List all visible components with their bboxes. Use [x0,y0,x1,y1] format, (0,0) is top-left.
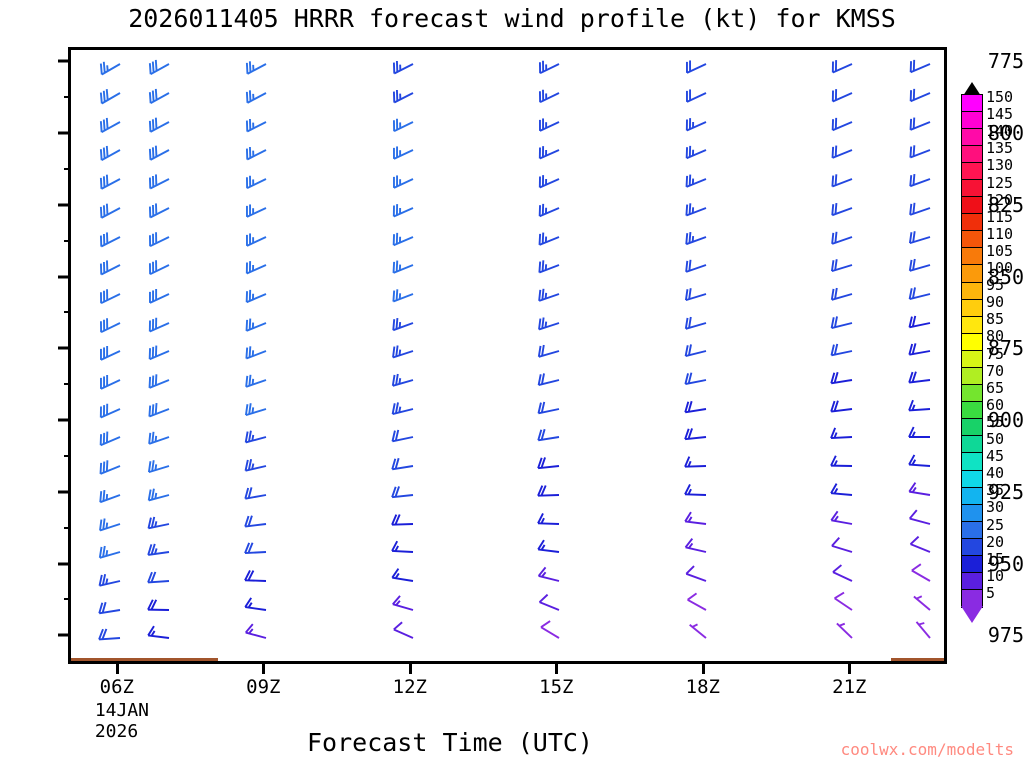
wind-barb-glyph [683,615,729,661]
colorbar-tick-label: 95 [986,276,1004,294]
colorbar-swatch [961,401,983,420]
wind-barb-glyph [243,615,289,661]
page-title: 2026011405 HRRR forecast wind profile (k… [0,4,1024,33]
colorbar-tick-label: 30 [986,498,1004,516]
x-axis-label: 21Z [832,676,866,698]
colorbar-tick-label: 50 [986,430,1004,448]
y-axis-tick [58,562,69,565]
x-axis-label: 18Z [686,676,720,698]
colorbar-swatch [961,350,983,369]
colorbar-swatch [961,196,983,215]
colorbar-swatch [961,333,983,352]
x-axis-tick [262,664,265,674]
y-axis-minor-tick [64,527,69,529]
x-axis-tick [555,664,558,674]
colorbar-swatch [961,504,983,523]
y-axis-minor-tick [64,311,69,313]
x-axis-tick [409,664,412,674]
colorbar-tick-label: 80 [986,327,1004,345]
wind-barb [97,615,143,661]
colorbar-tick-label: 5 [986,584,995,602]
colorbar-tick-label: 135 [986,139,1013,157]
colorbar-swatch [961,111,983,130]
wind-barb [829,615,875,661]
colorbar-swatch [961,299,983,318]
x-axis-tick [116,664,119,674]
colorbar-tick-label: 60 [986,396,1004,414]
wind-profile-chart: 2026011405 HRRR forecast wind profile (k… [0,0,1024,768]
y-axis-label: 975 [969,623,1024,647]
colorbar-swatch [961,316,983,335]
colorbar-tick-label: 115 [986,208,1013,226]
plot-inner [71,50,944,661]
x-axis-title: Forecast Time (UTC) [0,728,900,757]
colorbar[interactable] [961,95,983,608]
x-axis-tick [702,664,705,674]
colorbar-swatch [961,145,983,164]
colorbar-tick-label: 140 [986,122,1013,140]
y-axis-minor-tick [64,168,69,170]
wind-barb-glyph [536,615,582,661]
colorbar-swatch [961,521,983,540]
colorbar-tick-label: 65 [986,379,1004,397]
colorbar-swatch [961,555,983,574]
wind-barb-glyph [907,615,947,661]
colorbar-swatch [961,538,983,557]
colorbar-tick-label: 40 [986,464,1004,482]
colorbar-tick-label: 125 [986,174,1013,192]
y-axis-tick [58,203,69,206]
x-axis-label: 09Z [246,676,280,698]
colorbar-tick-label: 85 [986,310,1004,328]
colorbar-swatch [961,384,983,403]
colorbar-swatch [961,213,983,232]
plot-area [68,47,947,664]
credit-link[interactable]: coolwx.com/modelts [841,740,1014,759]
y-axis-minor-tick [64,96,69,98]
colorbar-tick-label: 10 [986,567,1004,585]
colorbar-tick-label: 75 [986,345,1004,363]
wind-barb [146,615,192,661]
y-axis-tick [58,60,69,63]
colorbar-swatch [961,367,983,386]
x-axis-tick [848,664,851,674]
colorbar-tick-label: 70 [986,362,1004,380]
wind-barb [536,615,582,661]
y-axis-tick [58,132,69,135]
colorbar-swatch [961,94,983,113]
colorbar-tick-label: 20 [986,533,1004,551]
colorbar-swatch [961,179,983,198]
x-axis-label: 12Z [393,676,427,698]
colorbar-tick-label: 145 [986,105,1013,123]
y-axis-tick [58,490,69,493]
terrain-band [218,661,340,664]
wind-barb [907,615,947,661]
colorbar-tick-label: 150 [986,88,1013,106]
colorbar-tick-label: 35 [986,481,1004,499]
colorbar-swatch [961,470,983,489]
y-axis-minor-tick [64,383,69,385]
colorbar-tick-label: 130 [986,156,1013,174]
y-axis-minor-tick [64,455,69,457]
colorbar-tick-label: 25 [986,516,1004,534]
colorbar-tick-label: 15 [986,550,1004,568]
colorbar-tick-label: 100 [986,259,1013,277]
colorbar-tick-label: 55 [986,413,1004,431]
colorbar-swatch [961,247,983,266]
y-axis-tick [58,634,69,637]
wind-barb-glyph [829,615,875,661]
wind-barb [683,615,729,661]
y-axis-label: 775 [969,49,1024,73]
colorbar-swatch [961,452,983,471]
y-axis-tick [58,419,69,422]
colorbar-swatch [961,128,983,147]
colorbar-tick-label: 45 [986,447,1004,465]
colorbar-swatch [961,162,983,181]
y-axis-minor-tick [64,240,69,242]
colorbar-swatch [961,264,983,283]
colorbar-swatch [961,282,983,301]
x-axis-label: 06Z [100,676,134,698]
y-axis-tick [58,275,69,278]
colorbar-swatch [961,487,983,506]
colorbar-tick-label: 110 [986,225,1013,243]
colorbar-under-arrow-icon [961,606,983,623]
colorbar-swatch [961,418,983,437]
wind-barb-glyph [146,615,192,661]
x-axis-label: 15Z [539,676,573,698]
wind-barb-glyph [390,615,436,661]
colorbar-tick-label: 120 [986,191,1013,209]
terrain-band [779,661,891,664]
colorbar-swatch [961,230,983,249]
colorbar-tick-label: 90 [986,293,1004,311]
colorbar-swatch [961,572,983,591]
wind-barb [390,615,436,661]
y-axis-tick [58,347,69,350]
colorbar-tick-label: 105 [986,242,1013,260]
wind-barb [243,615,289,661]
date-label-line: 14JAN [95,700,149,721]
colorbar-swatch [961,435,983,454]
y-axis-minor-tick [64,598,69,600]
wind-barb-glyph [97,615,143,661]
